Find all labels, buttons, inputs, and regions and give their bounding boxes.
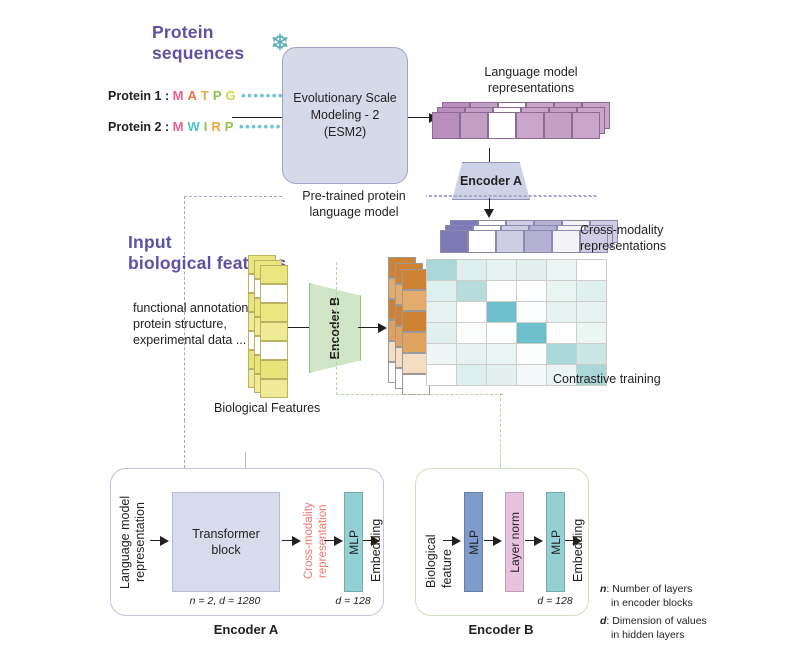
esm2-line-3: (ESM2) [293, 124, 397, 141]
sequence-letters-2: MWIRP [169, 120, 234, 134]
connector-card-b-top [500, 452, 501, 468]
amino-acid-w: W [187, 119, 200, 134]
matrix-cell-3-3 [517, 323, 546, 343]
matrix-cell-1-4 [547, 281, 576, 301]
matrix-cell-2-5 [577, 302, 606, 322]
matrix-cell-4-4 [547, 344, 576, 364]
lm-label-line-2: representations [437, 80, 625, 96]
feature-cell [260, 303, 288, 322]
encoder-a-arrow-2-head [292, 536, 301, 546]
amino-acid-r: R [211, 119, 221, 134]
matrix-cell-0-3 [517, 260, 546, 280]
feature-cell [260, 284, 288, 303]
matrix-cell-3-4 [547, 323, 576, 343]
language-model-representations-label: Language model representations [437, 64, 625, 96]
legend-n-line-1: : Number of layers [606, 583, 692, 595]
encoder-a-input-label: Language model representation [118, 492, 148, 592]
encoder-b-input-text: Biological feature [424, 534, 454, 588]
encoder-a-mlp-caption: d = 128 [326, 595, 380, 609]
encoder-b-mlp1-bar: MLP [464, 492, 483, 592]
transformer-block-caption-text: n = 2, d = 1280 [190, 595, 261, 607]
token-cell [432, 112, 460, 139]
encoder-b-mlp2-bar: MLP [546, 492, 565, 592]
encoder-b-arrow-3-head [534, 536, 543, 546]
encoder-b-layernorm-label: Layer norm [508, 512, 522, 573]
arrow-esm-to-lm-line [408, 117, 430, 118]
encoder-b-arrow-1-head [452, 536, 461, 546]
pretrained-model-label: Pre-trained protein language model [282, 188, 426, 220]
esm2-line-2: Modeling - 2 [293, 107, 397, 124]
lm-strip-front [432, 112, 600, 139]
sequence-letters-1: MATPG [169, 89, 236, 103]
matrix-cell-0-5 [577, 260, 606, 280]
contrastive-training-label: Contrastive training [553, 371, 661, 387]
connector-lm-to-encoder-a [489, 148, 490, 163]
legend-d-line-2: in hidden layers [600, 629, 790, 643]
encoder-b-output-text: Embedding [571, 519, 585, 582]
matrix-cell-1-5 [577, 281, 606, 301]
encoder-b-mlp-caption-text: d = 128 [537, 595, 572, 607]
encoderb-dashed-region [336, 262, 503, 395]
bio-title-line-1: Input [128, 232, 388, 253]
legend: n: Number of layers in encoder blocks d:… [600, 583, 790, 642]
token-cell [544, 112, 572, 139]
arrow-sequences-to-esm [232, 117, 282, 118]
encoder-b-input-label: Biological feature [423, 496, 455, 588]
amino-acid-m: M [173, 88, 184, 103]
encoder-b-card-title-text: Encoder B [468, 622, 533, 637]
encoder-a-mlp-caption-text: d = 128 [335, 595, 370, 607]
transformer-block-line-2: block [192, 542, 260, 558]
feature-cell [260, 360, 288, 379]
encoder-b-mlp-caption: d = 128 [528, 595, 582, 609]
encoder-b-output-label: Embedding [570, 500, 586, 582]
title-line-1: Protein [152, 22, 332, 43]
lm-label-line-1: Language model [437, 64, 625, 80]
biological-features-caption-text: Biological Features [214, 401, 320, 415]
transformer-block-caption: n = 2, d = 1280 [172, 595, 278, 609]
encoder-a-arrow-3-head [334, 536, 343, 546]
matrix-cell-3-5 [577, 323, 606, 343]
pretrained-label-line-1: Pre-trained protein [286, 188, 422, 204]
legend-n-line-2: in encoder blocks [600, 597, 790, 611]
feature-cell [260, 265, 288, 284]
connector-card-a-top [245, 452, 246, 468]
matrix-cell-0-4 [547, 260, 576, 280]
pretrained-dashed-top-right [414, 195, 596, 196]
encoder-a-mlp-bar: MLP [344, 492, 363, 592]
amino-acid-g: G [225, 88, 236, 103]
amino-acid-p: P [225, 119, 234, 134]
biological-features-caption: Biological Features [214, 400, 320, 416]
amino-acid-a: A [187, 88, 197, 103]
token-cell [488, 112, 516, 139]
feature-cell [260, 379, 288, 398]
encoder-b-mlp1-label: MLP [467, 530, 481, 555]
encoder-a-card-title-text: Encoder A [214, 622, 279, 637]
sequence-name-2: Protein 2 : [108, 120, 169, 134]
legend-item-d: d: Dimension of values in hidden layers [600, 615, 790, 642]
matrix-cell-2-3 [517, 302, 546, 322]
amino-acid-i: I [204, 119, 208, 134]
legend-d-line-1: : Dimension of values [606, 615, 706, 627]
sequence-row-1: Protein 1 :MATPG••••••••• [108, 88, 296, 103]
token-cell [460, 112, 488, 139]
encoder-a-card-title: Encoder A [110, 622, 382, 637]
encoder-a-mlp-label: MLP [347, 530, 361, 555]
matrix-cell-4-5 [577, 344, 606, 364]
transformer-block: Transformer block [172, 492, 280, 592]
amino-acid-t: T [201, 88, 209, 103]
esm2-block: Evolutionary Scale Modeling - 2 (ESM2) [282, 47, 408, 184]
legend-item-n: n: Number of layers in encoder blocks [600, 583, 790, 610]
sequence-list: Protein 1 :MATPG••••••••• Protein 2 :MWI… [108, 88, 296, 134]
matrix-cell-5-3 [517, 365, 546, 385]
encoder-b-card-title: Encoder B [415, 622, 587, 637]
matrix-cell-2-4 [547, 302, 576, 322]
sequence-name-1: Protein 1 : [108, 89, 169, 103]
bio-col-front [260, 265, 288, 398]
amino-acid-p: P [213, 88, 222, 103]
sequence-row-2: Protein 2 :MWIRP••••••••• [108, 119, 296, 134]
matrix-cell-1-3 [517, 281, 546, 301]
encoder-a-output-label: Embedding [368, 500, 384, 582]
encoder-b-mlp2-label: MLP [549, 530, 563, 555]
pretrained-label-line-2: language model [286, 204, 422, 220]
contrastive-training-text: Contrastive training [553, 372, 661, 386]
encoder-a-arrow-1-head [160, 536, 169, 546]
cross-modality-representations-label: Cross-modality representations [580, 222, 750, 254]
cm-label-line-2: representations [580, 238, 750, 254]
encodera-dashed-drop [184, 420, 185, 468]
amino-acid-m: M [173, 119, 184, 134]
matrix-cell-4-3 [517, 344, 546, 364]
encoder-b-arrow-2-head [493, 536, 502, 546]
encoder-a-input-text: Language model representation [118, 495, 147, 588]
feature-cell [260, 322, 288, 341]
esm2-line-1: Evolutionary Scale [293, 90, 397, 107]
transformer-block-line-1: Transformer [192, 526, 260, 542]
cm-label-line-1: Cross-modality [580, 222, 750, 238]
token-cell [572, 112, 600, 139]
feature-cell [260, 341, 288, 360]
encoder-a-trapezoid-label: Encoder A [460, 174, 522, 188]
encoder-b-layernorm-bar: Layer norm [505, 492, 524, 592]
token-cell [516, 112, 544, 139]
encoder-a-output-text: Embedding [369, 519, 383, 582]
